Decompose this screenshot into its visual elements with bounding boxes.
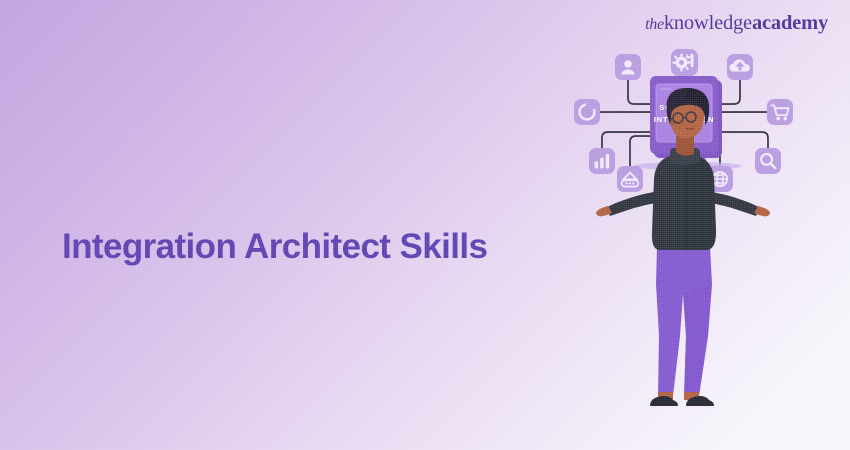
cloud-upload-icon[interactable] [727,54,753,80]
banner-root: theknowledgeacademy Integration Architec… [0,0,850,450]
bar-chart-icon[interactable] [589,148,615,174]
page-title: Integration Architect Skills [62,227,487,267]
person-arms-outstretched [596,88,770,408]
logo-word-academy: academy [752,12,828,34]
brand-logo[interactable]: theknowledgeacademy [645,13,828,34]
logo-word-the: the [645,16,664,33]
logo-word-knowledge: knowledge [664,12,752,34]
user-icon[interactable] [615,54,641,80]
sync-loading-icon[interactable] [574,99,600,125]
shopping-cart-icon[interactable] [767,99,793,125]
server-database-icon[interactable] [617,166,643,192]
search-icon[interactable] [755,148,781,174]
settings-tools-icon[interactable] [671,49,698,76]
software-integration-illustration: SOFTWARE INTEGRATION [560,36,810,416]
